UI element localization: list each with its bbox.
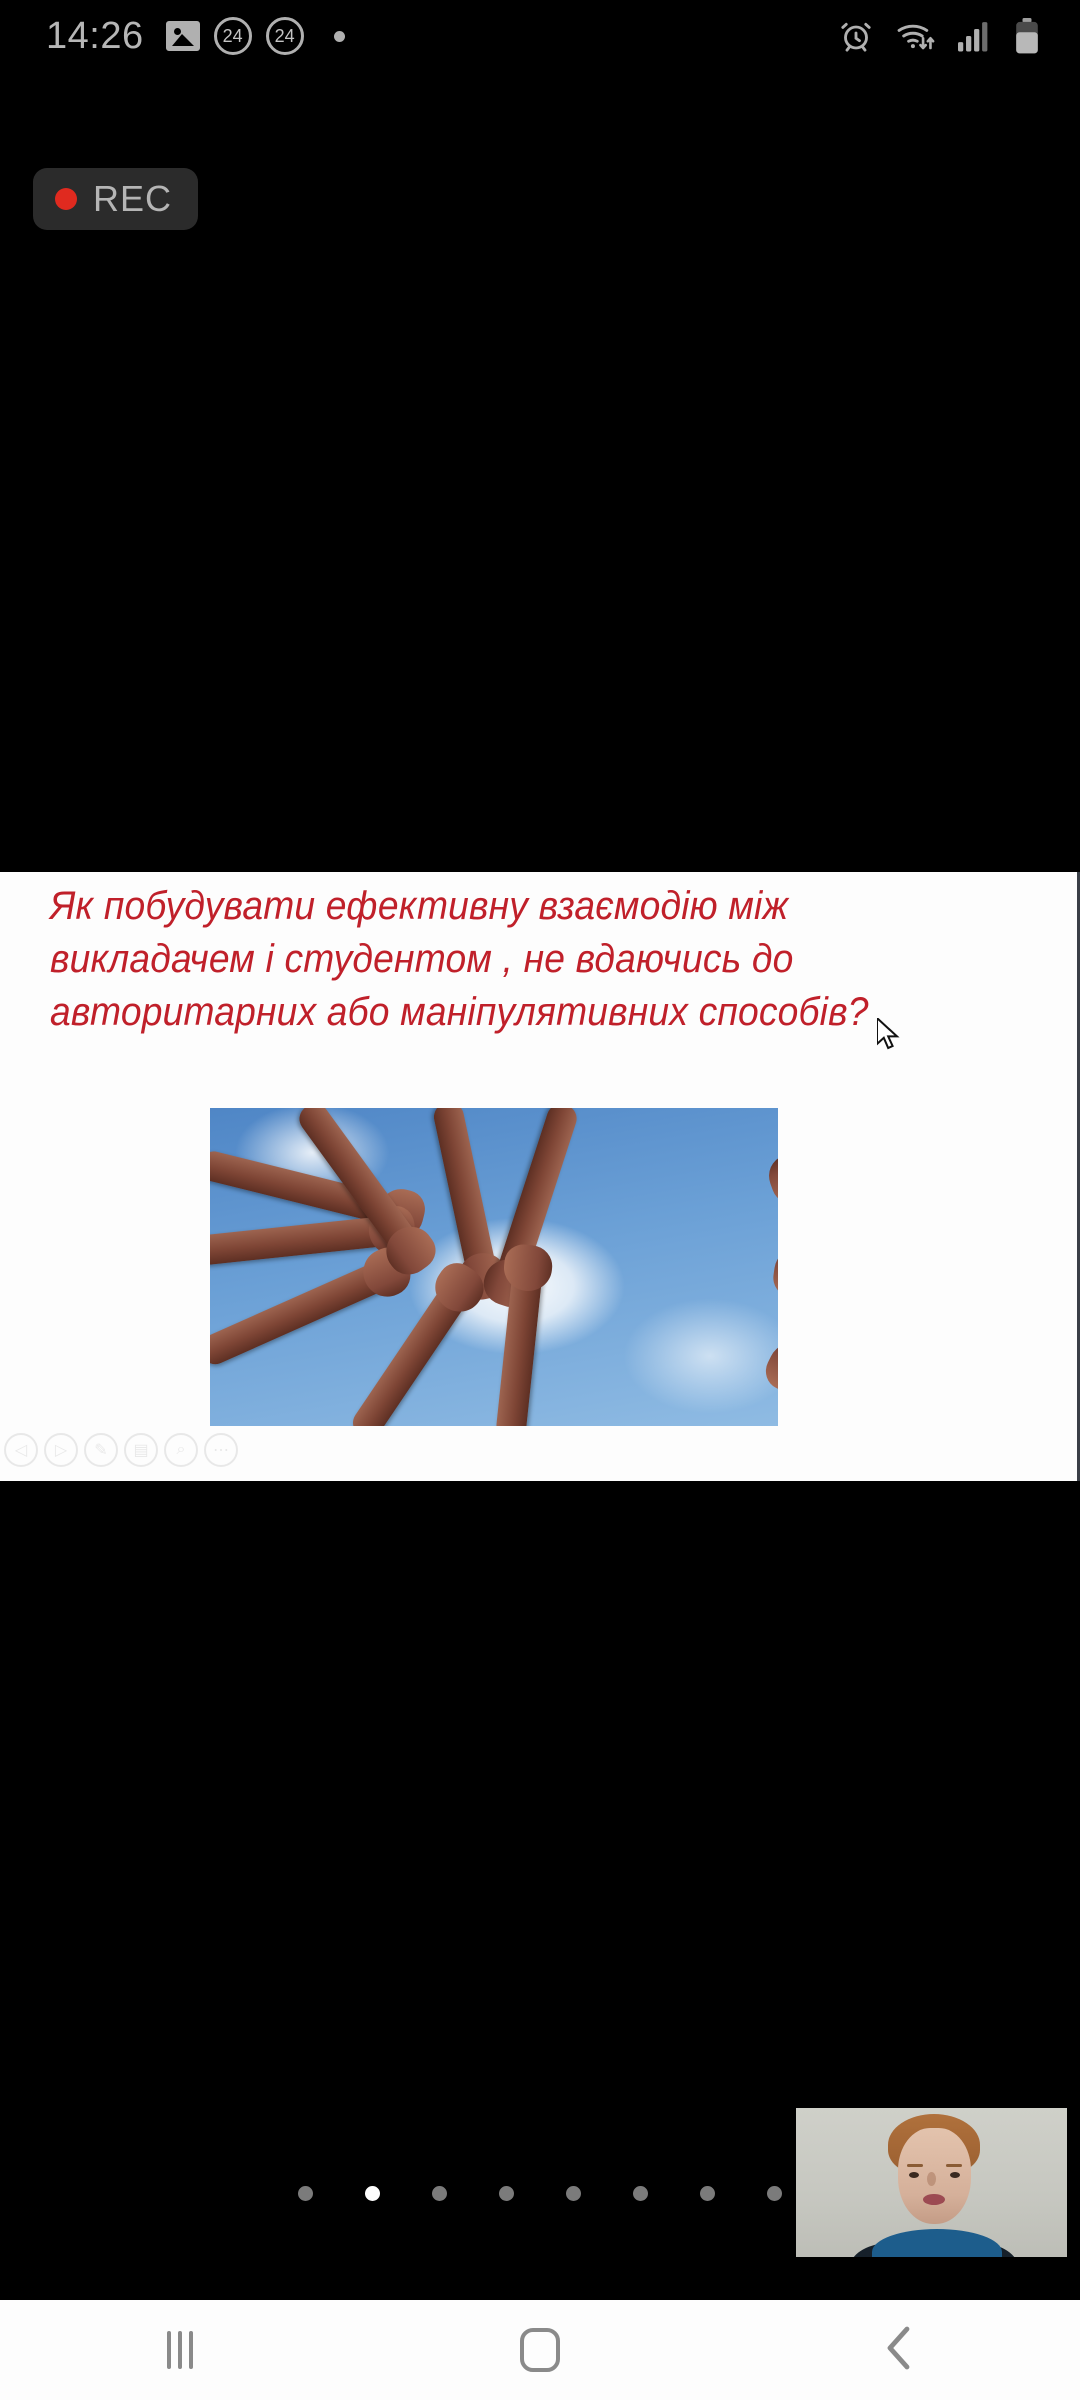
battery-icon bbox=[1014, 18, 1040, 54]
page-dot-2[interactable] bbox=[365, 2186, 380, 2201]
status-bar: 14:26 24 24 bbox=[0, 0, 1080, 72]
recents-button[interactable] bbox=[0, 2331, 360, 2369]
page-dot-7[interactable] bbox=[700, 2186, 715, 2201]
back-chevron-icon bbox=[883, 2325, 917, 2376]
home-button[interactable] bbox=[360, 2328, 720, 2372]
status-bar-left: 14:26 24 24 bbox=[0, 15, 345, 58]
presenter-video-frame bbox=[796, 2108, 1067, 2257]
recents-icon bbox=[167, 2331, 193, 2369]
gallery-icon bbox=[166, 21, 200, 51]
page-dot-5[interactable] bbox=[566, 2186, 581, 2201]
slide-photo-hands-star bbox=[210, 1108, 778, 1426]
wifi-icon bbox=[896, 19, 936, 53]
presenter-video-thumbnail[interactable] bbox=[793, 2105, 1070, 2260]
slides-menu-control[interactable]: ▤ bbox=[124, 1433, 158, 1467]
recording-badge[interactable]: REC bbox=[33, 168, 198, 230]
badge-24-second: 24 bbox=[266, 17, 304, 55]
next-slide-control[interactable]: ▷ bbox=[44, 1433, 78, 1467]
page-dot-6[interactable] bbox=[633, 2186, 648, 2201]
system-navigation-bar bbox=[0, 2300, 1080, 2400]
badge-24-first: 24 bbox=[214, 17, 252, 55]
slide-controls-toolbar[interactable]: ◁ ▷ ✎ ▤ ⌕ ⋯ bbox=[4, 1433, 238, 1467]
record-dot-icon bbox=[55, 188, 77, 210]
mouse-cursor bbox=[877, 1018, 903, 1052]
page-dot-4[interactable] bbox=[499, 2186, 514, 2201]
page-dot-3[interactable] bbox=[432, 2186, 447, 2201]
zoom-control[interactable]: ⌕ bbox=[164, 1433, 198, 1467]
pen-control[interactable]: ✎ bbox=[84, 1433, 118, 1467]
status-clock: 14:26 bbox=[46, 15, 144, 58]
presentation-slide[interactable]: Як побудувати ефективну взаємодію між ви… bbox=[0, 872, 1080, 1481]
status-bar-right bbox=[838, 18, 1080, 54]
phone-screen: 14:26 24 24 bbox=[0, 0, 1080, 2400]
presenter-torso bbox=[872, 2229, 1002, 2257]
signal-icon bbox=[958, 20, 992, 52]
alarm-icon bbox=[838, 18, 874, 54]
prev-slide-control[interactable]: ◁ bbox=[4, 1433, 38, 1467]
slide-question-text: Як побудувати ефективну взаємодію між ви… bbox=[50, 880, 915, 1039]
more-control[interactable]: ⋯ bbox=[204, 1433, 238, 1467]
back-button[interactable] bbox=[720, 2325, 1080, 2376]
notification-dot bbox=[334, 31, 345, 42]
home-icon bbox=[520, 2328, 560, 2372]
recording-label: REC bbox=[93, 178, 172, 220]
page-dot-1[interactable] bbox=[298, 2186, 313, 2201]
page-dot-8[interactable] bbox=[767, 2186, 782, 2201]
